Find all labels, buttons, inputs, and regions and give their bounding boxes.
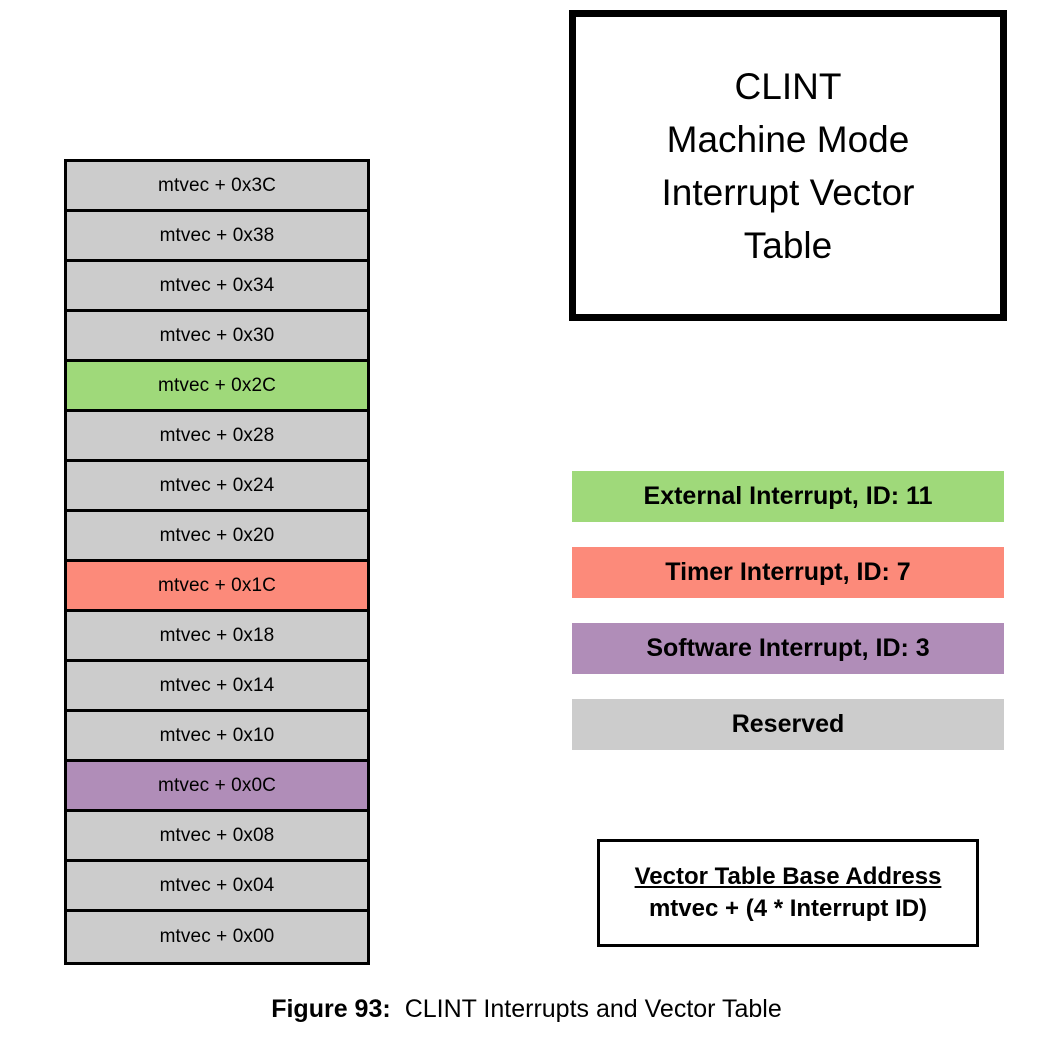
vector-table-row: mtvec + 0x34	[67, 262, 367, 312]
vector-table-row: mtvec + 0x14	[67, 662, 367, 712]
vector-table-row: mtvec + 0x0C	[67, 762, 367, 812]
vector-table-row: mtvec + 0x18	[67, 612, 367, 662]
vector-table-row: mtvec + 0x1C	[67, 562, 367, 612]
vector-table-row: mtvec + 0x00	[67, 912, 367, 962]
vector-table: mtvec + 0x3Cmtvec + 0x38mtvec + 0x34mtve…	[64, 159, 370, 965]
base-address-formula: mtvec + (4 * Interrupt ID)	[649, 893, 927, 925]
clint-title-box: CLINT Machine Mode Interrupt Vector Tabl…	[569, 10, 1007, 321]
vector-table-row: mtvec + 0x3C	[67, 162, 367, 212]
vector-table-row: mtvec + 0x08	[67, 812, 367, 862]
vector-table-row: mtvec + 0x38	[67, 212, 367, 262]
legend-item-reserved: Reserved	[572, 699, 1004, 750]
clint-title-line-4: Table	[744, 219, 832, 272]
vector-table-row: mtvec + 0x2C	[67, 362, 367, 412]
figure-caption: Figure 93:CLINT Interrupts and Vector Ta…	[0, 995, 1053, 1024]
interrupt-legend: External Interrupt, ID: 11Timer Interrup…	[572, 471, 1004, 750]
legend-item-external-interrupt: External Interrupt, ID: 11	[572, 471, 1004, 522]
clint-title-line-2: Machine Mode	[667, 113, 910, 166]
vector-table-row: mtvec + 0x24	[67, 462, 367, 512]
legend-item-software-interrupt: Software Interrupt, ID: 3	[572, 623, 1004, 674]
clint-title-line-1: CLINT	[735, 60, 842, 113]
clint-title-line-3: Interrupt Vector	[662, 166, 915, 219]
legend-item-timer-interrupt: Timer Interrupt, ID: 7	[572, 547, 1004, 598]
vector-table-base-address-box: Vector Table Base Address mtvec + (4 * I…	[597, 839, 979, 947]
base-address-title: Vector Table Base Address	[635, 861, 942, 893]
figure-caption-label: Figure 93:	[271, 995, 390, 1023]
vector-table-row: mtvec + 0x10	[67, 712, 367, 762]
figure-caption-text: CLINT Interrupts and Vector Table	[405, 995, 782, 1023]
vector-table-row: mtvec + 0x04	[67, 862, 367, 912]
vector-table-row: mtvec + 0x20	[67, 512, 367, 562]
vector-table-row: mtvec + 0x30	[67, 312, 367, 362]
vector-table-row: mtvec + 0x28	[67, 412, 367, 462]
